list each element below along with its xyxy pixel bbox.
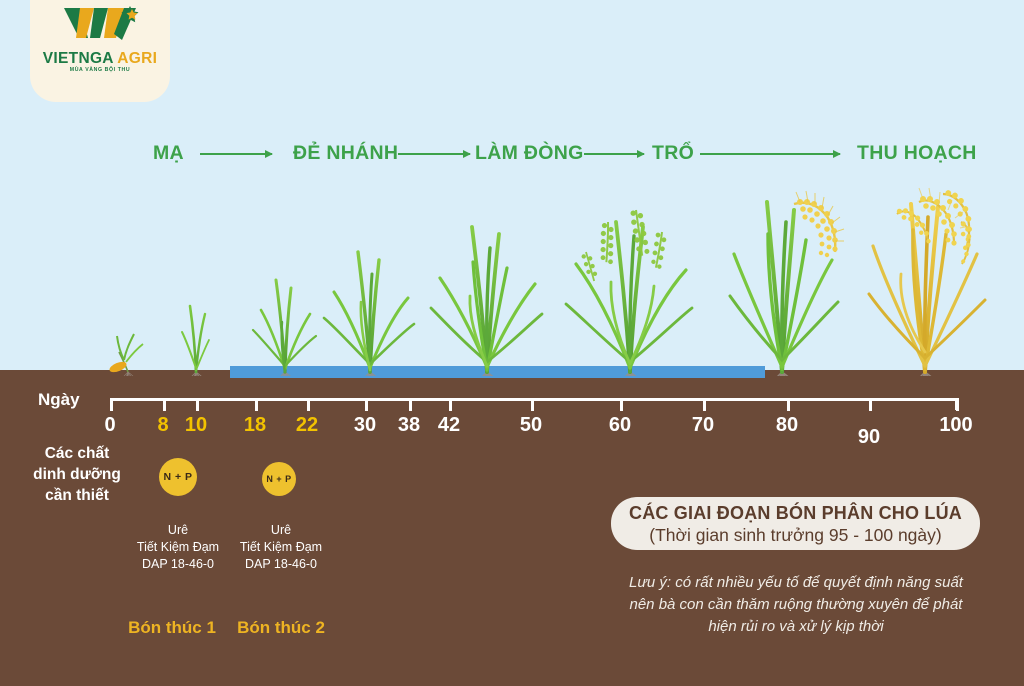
timeline-tick-18 — [255, 398, 258, 411]
brand-logo-card[interactable]: VIETNGA AGRI MÙA VÀNG BỘI THU — [30, 0, 170, 102]
plant-heading-plant — [566, 209, 692, 376]
plant-flowering-plant — [730, 191, 844, 376]
infobox-subtitle: (Thời gian sinh trưởng 95 - 100 ngày) — [649, 524, 941, 546]
logo-tagline: MÙA VÀNG BỘI THU — [30, 67, 170, 73]
note-line1: Lưu ý: có rất nhiều yếu tố để quyết định… — [596, 572, 996, 594]
timeline-day-18: 18 — [244, 414, 266, 437]
application-round-2: Bón thúc 2 — [237, 618, 325, 638]
timeline-day-30: 30 — [354, 414, 376, 437]
nutrients-title-line3: cần thiết — [18, 485, 136, 506]
timeline-tick-50 — [531, 398, 534, 411]
np-badge-1[interactable]: N + P — [159, 458, 197, 496]
nutrients-title: Các chất dinh dưỡng cần thiết — [18, 443, 136, 506]
stage-label-tro: TRỔ — [652, 138, 694, 168]
fertilizer-list-2: Urê Tiết Kiệm Đạm DAP 18-46-0 — [240, 522, 322, 573]
application-round-1: Bón thúc 1 — [128, 618, 216, 638]
timeline-tick-8 — [163, 398, 166, 411]
logo-name-primary: VIETNGA — [43, 50, 113, 67]
timeline-tick-90 — [869, 398, 872, 411]
timeline-day-50: 50 — [520, 414, 542, 437]
note-line3: hiện rủi ro và xử lý kịp thời — [596, 616, 996, 638]
fertilizer-2-line2: Tiết Kiệm Đạm — [240, 539, 322, 556]
logo-name-secondary: AGRI — [117, 50, 157, 67]
summary-infobox: CÁC GIAI ĐOẠN BÓN PHÂN CHO LÚA (Thời gia… — [611, 497, 980, 550]
timeline-day-100: 100 — [939, 414, 972, 437]
timeline-axis — [110, 398, 958, 401]
plant-tillering-plant-2 — [324, 252, 414, 376]
timeline-tick-10 — [196, 398, 199, 411]
timeline-tick-80 — [787, 398, 790, 411]
logo-mark-icon — [30, 4, 170, 52]
nutrients-title-line1: Các chất — [18, 443, 136, 464]
plant-booting-plant — [431, 227, 542, 376]
timeline-tick-60 — [620, 398, 623, 411]
stage-label-ma: MẠ — [153, 138, 184, 168]
timeline-day-10: 10 — [185, 414, 207, 437]
timeline-tick-42 — [449, 398, 452, 411]
fertilizer-1-line1: Urê — [137, 522, 219, 539]
timeline-day-80: 80 — [776, 414, 798, 437]
timeline-tick-30 — [365, 398, 368, 411]
infographic-canvas: VIETNGA AGRI MÙA VÀNG BỘI THU MẠ ĐẺ NHÁN… — [0, 0, 1024, 686]
plant-harvest-plant — [869, 188, 985, 376]
timeline-day-8: 8 — [157, 414, 168, 437]
advisory-note: Lưu ý: có rất nhiều yếu tố để quyết định… — [596, 572, 996, 638]
fertilizer-1-line2: Tiết Kiệm Đạm — [137, 539, 219, 556]
stage-label-lam-dong: LÀM ĐÒNG — [475, 138, 584, 168]
timeline-tick-38 — [409, 398, 412, 411]
timeline-tick-0 — [110, 398, 113, 411]
timeline-tick-22 — [307, 398, 310, 411]
note-line2: nên bà con cần thăm ruộng thường xuyên đ… — [596, 594, 996, 616]
timeline-day-22: 22 — [296, 414, 318, 437]
plant-seedling-sprout — [108, 334, 143, 376]
fertilizer-list-1: Urê Tiết Kiệm Đạm DAP 18-46-0 — [137, 522, 219, 573]
timeline-tick-100 — [956, 398, 959, 411]
timeline-day-38: 38 — [398, 414, 420, 437]
timeline-day-60: 60 — [609, 414, 631, 437]
nutrients-title-line2: dinh dưỡng — [18, 464, 136, 485]
timeline-axis-label: Ngày — [38, 390, 80, 410]
fertilizer-2-line1: Urê — [240, 522, 322, 539]
fertilizer-1-line3: DAP 18-46-0 — [137, 556, 219, 573]
timeline-day-42: 42 — [438, 414, 460, 437]
stage-arrow-3 — [584, 153, 644, 155]
stage-label-thu-hoach: THU HOẠCH — [857, 138, 977, 168]
plant-seedling — [182, 306, 210, 376]
np-badge-2[interactable]: N + P — [262, 462, 296, 496]
logo-wordmark: VIETNGA AGRI — [30, 50, 170, 68]
stage-arrow-4 — [700, 153, 840, 155]
infobox-title: CÁC GIAI ĐOẠN BÓN PHÂN CHO LÚA — [629, 502, 962, 524]
timeline-day-0: 0 — [104, 414, 115, 437]
stage-label-de-nhanh: ĐẺ NHÁNH — [293, 138, 398, 168]
fertilizer-2-line3: DAP 18-46-0 — [240, 556, 322, 573]
timeline-day-90: 90 — [858, 426, 880, 449]
timeline-day-70: 70 — [692, 414, 714, 437]
stage-arrow-2 — [398, 153, 470, 155]
growth-stage-flow: MẠ ĐẺ NHÁNH LÀM ĐÒNG TRỔ THU HOẠCH — [0, 138, 1024, 174]
plant-tillering-plant — [253, 280, 316, 376]
timeline-tick-70 — [703, 398, 706, 411]
stage-arrow-1 — [200, 153, 272, 155]
